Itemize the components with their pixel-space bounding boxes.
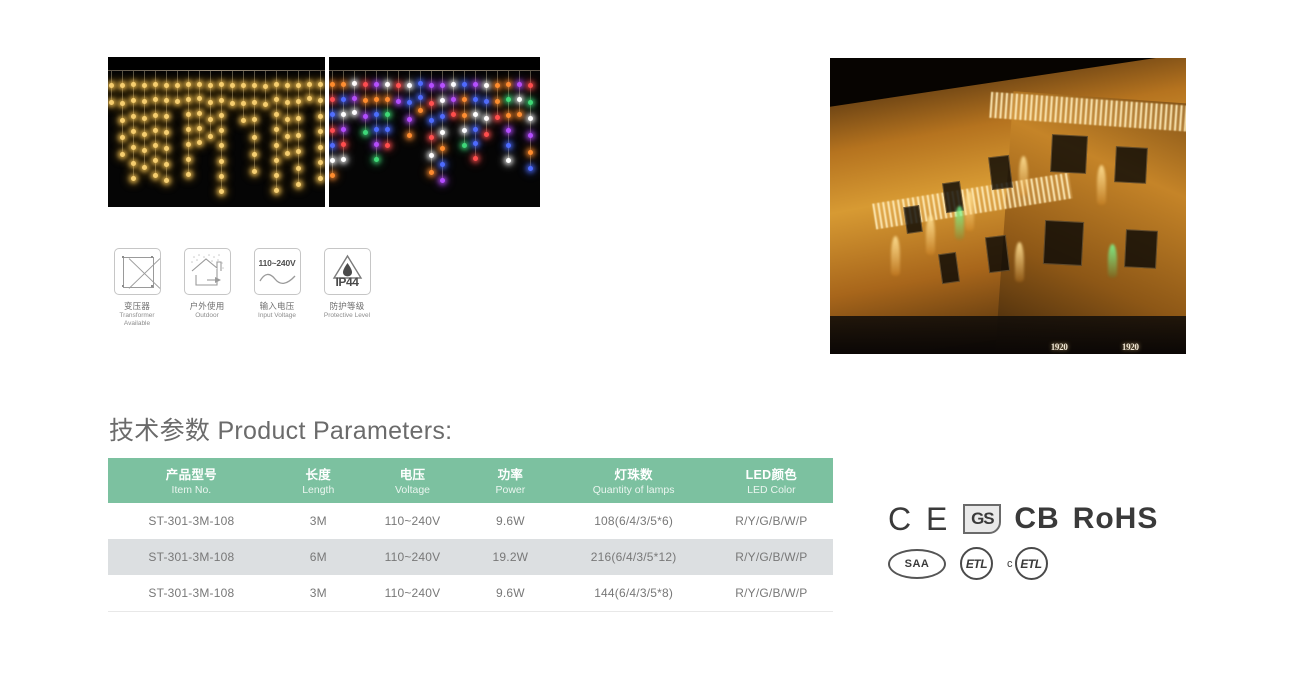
led-bulb: [164, 162, 169, 167]
column-header-led-color: LED颜色 LED Color: [710, 458, 833, 503]
feature-label-cn: 输入电压: [250, 301, 304, 312]
led-bulb: [495, 115, 500, 120]
led-bulb: [341, 97, 346, 102]
led-bulb: [186, 142, 191, 147]
rohs-mark-icon: RoHS: [1073, 504, 1159, 534]
led-bulb: [517, 82, 522, 87]
led-bulb: [341, 112, 346, 117]
led-bulb: [528, 133, 533, 138]
led-bulb: [197, 111, 202, 116]
led-bulb: [296, 166, 301, 171]
led-bulb: [374, 127, 379, 132]
led-bulb: [186, 97, 191, 102]
led-bulb: [296, 182, 301, 187]
led-bulb: [462, 128, 467, 133]
led-bulb: [241, 118, 246, 123]
column-header-quantity: 灯珠数 Quantity of lamps: [558, 458, 710, 503]
led-bulb: [495, 83, 500, 88]
led-bulb: [451, 97, 456, 102]
led-bulb: [307, 96, 312, 101]
led-bulb: [285, 83, 290, 88]
led-bulb: [131, 129, 136, 134]
led-bulb: [451, 82, 456, 87]
led-bulb: [517, 112, 522, 117]
led-bulb: [131, 98, 136, 103]
led-bulb: [142, 132, 147, 137]
led-bulb: [495, 99, 500, 104]
led-bulb: [451, 112, 456, 117]
multicolor-icicle-lights-image: [329, 57, 540, 207]
led-bulb: [318, 98, 323, 103]
column-header-item-no: 产品型号 Item No.: [108, 458, 275, 503]
led-bulb: [153, 128, 158, 133]
led-bulb: [374, 97, 379, 102]
outdoor-house-icon: [184, 248, 231, 295]
led-bulb: [385, 82, 390, 87]
led-bulb: [252, 169, 257, 174]
ip-rating-value: IP44: [325, 275, 370, 289]
led-bulb: [131, 114, 136, 119]
led-bulb: [219, 143, 224, 148]
led-bulb: [396, 99, 401, 104]
led-bulb: [274, 82, 279, 87]
led-bulb: [473, 127, 478, 132]
led-bulb: [429, 153, 434, 158]
led-bulb: [252, 117, 257, 122]
led-bulb: [440, 146, 445, 151]
led-bulb: [528, 150, 533, 155]
led-bulb: [318, 129, 323, 134]
led-bulb: [341, 82, 346, 87]
led-bulb: [407, 133, 412, 138]
light-strand: [420, 71, 421, 111]
led-bulb: [164, 114, 169, 119]
led-bulb: [418, 81, 423, 86]
product-gallery: [108, 57, 540, 207]
led-bulb: [153, 82, 158, 87]
photo-top-bar: [108, 57, 325, 70]
led-bulb: [120, 152, 125, 157]
led-bulb: [274, 188, 279, 193]
led-bulb: [241, 83, 246, 88]
led-bulb: [506, 143, 511, 148]
etl-mark-icon: ETL: [960, 547, 993, 580]
led-bulb: [274, 173, 279, 178]
led-bulb: [296, 133, 301, 138]
feature-outdoor: 户外使用 Outdoor: [180, 248, 234, 329]
led-bulb: [208, 100, 213, 105]
gs-mark-icon: GS: [963, 504, 1001, 534]
led-bulb: [186, 172, 191, 177]
protection-level-icon: IP44: [324, 248, 371, 295]
light-string-wire: [108, 70, 325, 71]
led-bulb: [164, 83, 169, 88]
cell-led-color: R/Y/G/B/W/P: [710, 503, 833, 539]
led-bulb: [528, 116, 533, 121]
led-bulb: [252, 152, 257, 157]
led-bulb: [363, 114, 368, 119]
led-bulb: [506, 158, 511, 163]
led-bulb: [219, 98, 224, 103]
feature-label-en: Transformer Available: [110, 312, 164, 329]
led-bulb: [285, 151, 290, 156]
led-bulb: [208, 83, 213, 88]
cell-item-no: ST-301-3M-108: [108, 503, 275, 539]
column-header-power: 功率 Power: [463, 458, 557, 503]
led-bulb: [517, 97, 522, 102]
led-bulb: [153, 113, 158, 118]
led-bulb: [175, 99, 180, 104]
led-bulb: [197, 96, 202, 101]
led-bulb: [197, 140, 202, 145]
led-bulb: [407, 83, 412, 88]
led-bulb: [296, 83, 301, 88]
led-bulb: [307, 82, 312, 87]
led-bulb: [429, 118, 434, 123]
led-bulb: [263, 102, 268, 107]
led-bulb: [429, 135, 434, 140]
feature-protection-level: IP44 防护等级 Protective Level: [320, 248, 374, 329]
led-bulb: [462, 97, 467, 102]
led-bulb: [506, 128, 511, 133]
feature-label-cn: 户外使用: [180, 301, 234, 312]
led-bulb: [274, 143, 279, 148]
light-strand: [497, 71, 498, 120]
led-bulb: [142, 165, 147, 170]
led-bulb: [175, 83, 180, 88]
led-bulb: [318, 82, 323, 87]
led-bulb: [506, 113, 511, 118]
led-bulb: [142, 83, 147, 88]
led-bulb: [330, 158, 335, 163]
led-bulb: [318, 145, 323, 150]
led-bulb: [131, 176, 136, 181]
led-bulb: [363, 98, 368, 103]
feature-label-cn: 防护等级: [320, 301, 374, 312]
led-bulb: [462, 82, 467, 87]
led-bulb: [186, 157, 191, 162]
led-bulb: [341, 142, 346, 147]
led-bulb: [219, 159, 224, 164]
led-bulb: [186, 82, 191, 87]
cell-length: 6M: [275, 539, 362, 575]
feature-label-en: Outdoor: [180, 312, 234, 320]
led-bulb: [274, 158, 279, 163]
cell-led-color: R/Y/G/B/W/P: [710, 575, 833, 612]
light-strand: [453, 71, 454, 116]
led-bulb: [131, 161, 136, 166]
led-bulb: [219, 174, 224, 179]
table-header: 产品型号 Item No. 长度 Length 电压 Voltage 功率 Po…: [108, 458, 833, 503]
led-bulb: [296, 99, 301, 104]
led-bulb: [219, 82, 224, 87]
led-bulb: [252, 100, 257, 105]
led-bulb: [164, 178, 169, 183]
photo-top-bar: [329, 57, 540, 70]
feature-icon-row: 变压器 Transformer Available: [110, 248, 374, 329]
cell-lamps: 216(6/4/3/5*12): [558, 539, 710, 575]
led-bulb: [120, 101, 125, 106]
led-bulb: [274, 127, 279, 132]
led-bulb: [429, 170, 434, 175]
light-strand: [354, 71, 355, 113]
cell-power: 9.6W: [463, 503, 557, 539]
led-bulb: [374, 157, 379, 162]
led-bulb: [197, 82, 202, 87]
led-bulb: [131, 82, 136, 87]
led-bulb: [385, 127, 390, 132]
building-facade-night-image: 1920 1920: [830, 58, 1186, 354]
cell-voltage: 110~240V: [362, 539, 464, 575]
cetl-mark-icon: c ETL: [1007, 547, 1048, 580]
feature-input-voltage: 110~240V 输入电压 Input Voltage: [250, 248, 304, 329]
led-bulb: [285, 134, 290, 139]
led-bulb: [385, 97, 390, 102]
led-bulb: [341, 127, 346, 132]
transformer-icon: [114, 248, 161, 295]
building-sign-left: 1920: [1051, 342, 1068, 352]
led-bulb: [418, 95, 423, 100]
table-row: ST-301-3M-108 6M 110~240V 19.2W 216(6/4/…: [108, 539, 833, 575]
led-bulb: [318, 176, 323, 181]
column-header-length: 长度 Length: [275, 458, 362, 503]
led-bulb: [462, 143, 467, 148]
cb-mark-icon: CB: [1014, 504, 1059, 534]
led-bulb: [186, 127, 191, 132]
led-bulb: [219, 128, 224, 133]
cell-length: 3M: [275, 503, 362, 539]
led-bulb: [429, 83, 434, 88]
cell-led-color: R/Y/G/B/W/P: [710, 539, 833, 575]
led-bulb: [473, 156, 478, 161]
led-bulb: [396, 83, 401, 88]
led-bulb: [374, 142, 379, 147]
led-bulb: [153, 173, 158, 178]
led-bulb: [318, 160, 323, 165]
led-bulb: [296, 116, 301, 121]
led-bulb: [142, 148, 147, 153]
cetl-circle: ETL: [1015, 547, 1048, 580]
saa-mark-icon: SAA: [888, 549, 946, 579]
led-bulb: [131, 145, 136, 150]
cell-voltage: 110~240V: [362, 575, 464, 612]
led-bulb: [318, 114, 323, 119]
feature-transformer: 变压器 Transformer Available: [110, 248, 164, 329]
led-bulb: [186, 112, 191, 117]
led-bulb: [528, 83, 533, 88]
feature-label-en: Protective Level: [320, 312, 374, 320]
led-bulb: [528, 100, 533, 105]
led-bulb: [484, 99, 489, 104]
led-bulb: [407, 100, 412, 105]
led-bulb: [484, 132, 489, 137]
led-bulb: [473, 97, 478, 102]
cell-voltage: 110~240V: [362, 503, 464, 539]
led-bulb: [120, 135, 125, 140]
led-bulb: [330, 128, 335, 133]
led-bulb: [374, 82, 379, 87]
certification-logos: C E GS CB RoHS SAA ETL c ETL: [888, 503, 1158, 580]
cetl-prefix: c: [1007, 558, 1013, 570]
warm-white-icicle-lights-image: [108, 57, 325, 207]
led-bulb: [385, 143, 390, 148]
led-bulb: [120, 118, 125, 123]
led-bulb: [208, 117, 213, 122]
led-bulb: [330, 112, 335, 117]
feature-label-cn: 变压器: [110, 301, 164, 312]
table-body: ST-301-3M-108 3M 110~240V 9.6W 108(6/4/3…: [108, 503, 833, 612]
cell-power: 19.2W: [463, 539, 557, 575]
certification-row-2: SAA ETL c ETL: [888, 547, 1158, 580]
led-bulb: [120, 83, 125, 88]
led-bulb: [109, 100, 114, 105]
ce-mark-icon: C E: [888, 503, 950, 535]
led-bulb: [352, 81, 357, 86]
building-sign-right: 1920: [1122, 342, 1139, 352]
led-bulb: [230, 101, 235, 106]
led-bulb: [219, 113, 224, 118]
led-bulb: [440, 130, 445, 135]
led-bulb: [363, 130, 368, 135]
feature-label-en: Input Voltage: [250, 312, 304, 320]
led-bulb: [440, 83, 445, 88]
led-bulb: [429, 101, 434, 106]
led-bulb: [418, 108, 423, 113]
led-bulb: [142, 116, 147, 121]
led-bulb: [473, 112, 478, 117]
led-bulb: [109, 83, 114, 88]
led-bulb: [462, 113, 467, 118]
light-strand: [519, 71, 520, 116]
led-bulb: [440, 162, 445, 167]
led-bulb: [252, 135, 257, 140]
led-bulb: [352, 96, 357, 101]
led-bulb: [285, 117, 290, 122]
table-row: ST-301-3M-108 3M 110~240V 9.6W 108(6/4/3…: [108, 503, 833, 539]
table-header-row: 产品型号 Item No. 长度 Length 电压 Voltage 功率 Po…: [108, 458, 833, 503]
led-bulb: [241, 101, 246, 106]
led-bulb: [230, 83, 235, 88]
led-bulb: [330, 82, 335, 87]
led-bulb: [352, 110, 357, 115]
led-bulb: [285, 100, 290, 105]
led-bulb: [274, 112, 279, 117]
led-bulb: [440, 178, 445, 183]
cell-length: 3M: [275, 575, 362, 612]
cell-lamps: 144(6/4/3/5*8): [558, 575, 710, 612]
led-bulb: [528, 166, 533, 171]
led-bulb: [440, 98, 445, 103]
led-bulb: [484, 116, 489, 121]
cell-lamps: 108(6/4/3/5*6): [558, 503, 710, 539]
led-bulb: [341, 157, 346, 162]
led-bulb: [506, 97, 511, 102]
product-parameters-table: 产品型号 Item No. 长度 Length 电压 Voltage 功率 Po…: [108, 458, 833, 612]
table-row: ST-301-3M-108 3M 110~240V 9.6W 144(6/4/3…: [108, 575, 833, 612]
led-bulb: [473, 82, 478, 87]
led-bulb: [296, 149, 301, 154]
led-bulb: [407, 117, 412, 122]
led-bulb: [330, 173, 335, 178]
led-bulb: [153, 158, 158, 163]
cell-item-no: ST-301-3M-108: [108, 539, 275, 575]
cell-power: 9.6W: [463, 575, 557, 612]
led-bulb: [153, 143, 158, 148]
certification-row-1: C E GS CB RoHS: [888, 503, 1158, 535]
led-bulb: [473, 141, 478, 146]
led-bulb: [363, 82, 368, 87]
led-bulb: [208, 134, 213, 139]
cell-item-no: ST-301-3M-108: [108, 575, 275, 612]
column-header-voltage: 电压 Voltage: [362, 458, 464, 503]
page-title: 技术参数 Product Parameters:: [109, 411, 452, 447]
led-bulb: [142, 99, 147, 104]
led-bulb: [197, 126, 202, 131]
led-bulb: [164, 130, 169, 135]
product-spec-page: 变压器 Transformer Available: [0, 0, 1296, 687]
led-bulb: [330, 143, 335, 148]
light-strand: [243, 71, 244, 123]
transformer-x-shape: [123, 257, 154, 288]
led-bulb: [484, 83, 489, 88]
led-bulb: [164, 146, 169, 151]
led-bulb: [374, 112, 379, 117]
led-bulb: [219, 189, 224, 194]
led-bulb: [153, 97, 158, 102]
led-bulb: [440, 114, 445, 119]
led-bulb: [506, 82, 511, 87]
led-bulb: [330, 97, 335, 102]
led-bulb: [385, 112, 390, 117]
led-bulb: [252, 83, 257, 88]
led-bulb: [263, 84, 268, 89]
led-bulb: [164, 98, 169, 103]
led-bulb: [274, 97, 279, 102]
input-voltage-icon: 110~240V: [254, 248, 301, 295]
